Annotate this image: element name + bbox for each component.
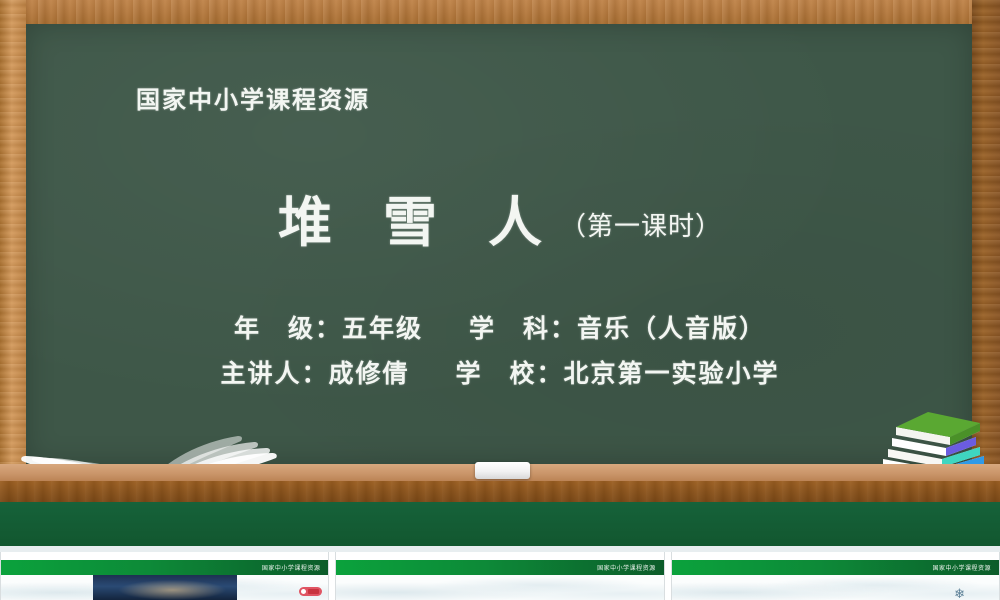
presentation-slide: 国家中小学课程资源 堆 雪 人（第一课时） 年 级：五年级学 科：音乐（人音版）… bbox=[0, 0, 1000, 552]
thumbnail-body-3: ❄ bbox=[672, 575, 999, 600]
grade-label: 年 级： bbox=[234, 315, 342, 343]
badge-text-block bbox=[308, 589, 319, 594]
thumbnail-header-bar-2: 国家中小学课程资源 bbox=[336, 560, 663, 575]
grade-value: 五年级 bbox=[342, 315, 423, 343]
meta-line-grade-subject: 年 级：五年级学 科：音乐（人音版） bbox=[0, 309, 1000, 345]
school-value: 北京第一实验小学 bbox=[564, 360, 780, 388]
teacher-value: 成修倩 bbox=[328, 360, 409, 388]
subject-label: 学 科： bbox=[469, 315, 577, 343]
thumbnail-body-1 bbox=[1, 575, 328, 600]
thumbnail-brand-label-2: 国家中小学课程资源 bbox=[597, 563, 664, 572]
thumbnail-badge-1 bbox=[299, 587, 322, 596]
frame-top-rail bbox=[0, 0, 1000, 24]
thumbnail-photo-1 bbox=[93, 575, 237, 600]
thumbnail-card-3[interactable]: 国家中小学课程资源 ❄ bbox=[671, 552, 1000, 600]
slide-bottom-green-band bbox=[0, 502, 1000, 546]
brand-label-top: 国家中小学课程资源 bbox=[136, 80, 370, 115]
thumbnail-header-bar-3: 国家中小学课程资源 bbox=[672, 560, 999, 575]
thumbnail-watermark-3 bbox=[672, 575, 999, 600]
title-sub-text: （第一课时） bbox=[560, 211, 722, 241]
thumbnail-body-2 bbox=[336, 575, 663, 600]
meta-line-teacher-school: 主讲人：成修倩学 校：北京第一实验小学 bbox=[0, 354, 1000, 390]
subject-value: 音乐（人音版） bbox=[577, 315, 766, 343]
slide-thumbnail-strip[interactable]: 国家中小学课程资源 国家中小学课程资源 国家中小学课程资源 bbox=[0, 552, 1000, 600]
thumbnail-brand-label-3: 国家中小学课程资源 bbox=[932, 563, 999, 572]
thumbnail-header-bar-1: 国家中小学课程资源 bbox=[1, 560, 328, 575]
snowflake-icon: ❄ bbox=[954, 587, 965, 600]
thumbnail-brand-label-1: 国家中小学课程资源 bbox=[262, 563, 329, 572]
teacher-label: 主讲人： bbox=[220, 360, 328, 388]
page-title: 堆 雪 人（第一课时） bbox=[0, 178, 1000, 257]
title-main-text: 堆 雪 人 bbox=[278, 193, 560, 253]
thumbnail-watermark-2 bbox=[336, 575, 663, 600]
chalkboard-ledge-bottom bbox=[0, 481, 1000, 502]
thumbnail-card-2[interactable]: 国家中小学课程资源 bbox=[335, 552, 664, 600]
chalkboard-eraser bbox=[475, 462, 530, 479]
slide-stage: 国家中小学课程资源 堆 雪 人（第一课时） 年 级：五年级学 科：音乐（人音版）… bbox=[0, 0, 1000, 600]
thumbnail-card-1[interactable]: 国家中小学课程资源 bbox=[0, 552, 329, 600]
badge-dot-icon bbox=[301, 589, 306, 594]
school-label: 学 校： bbox=[456, 360, 564, 388]
